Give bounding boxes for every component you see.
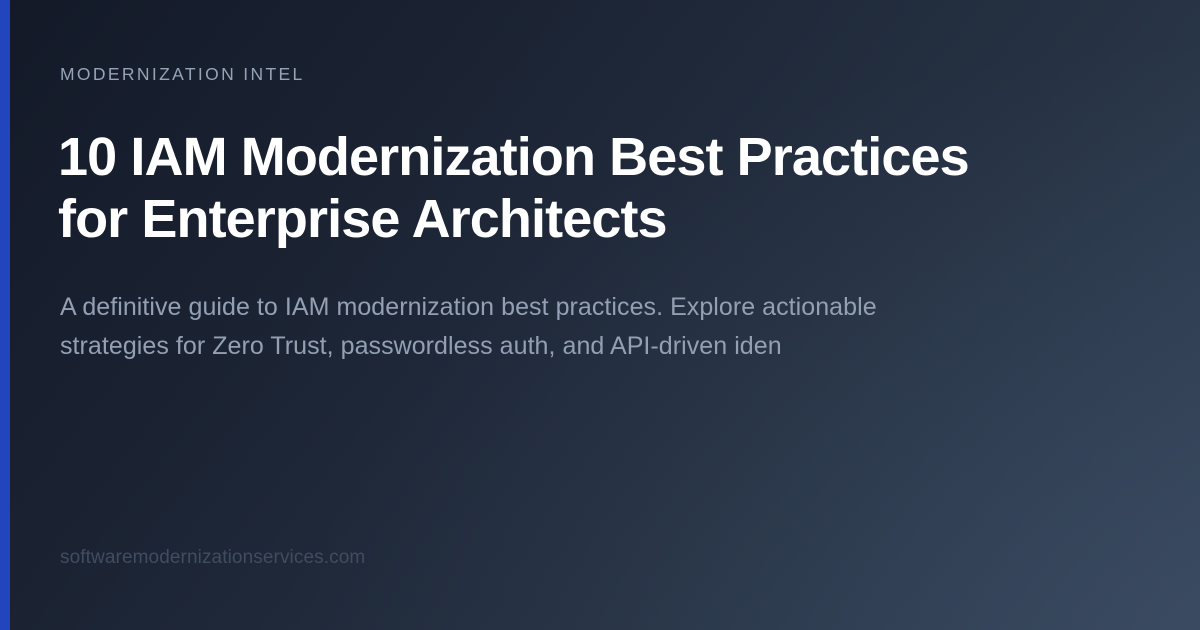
left-accent-bar (0, 0, 10, 630)
footer-domain-label: softwaremodernizationservices.com (60, 547, 365, 569)
page-title: 10 IAM Modernization Best Practices for … (58, 126, 1038, 250)
social-share-card: MODERNIZATION INTEL 10 IAM Modernization… (0, 0, 1200, 630)
eyebrow-label: MODERNIZATION INTEL (60, 64, 305, 85)
page-subtitle: A definitive guide to IAM modernization … (60, 288, 940, 365)
card-content: MODERNIZATION INTEL 10 IAM Modernization… (60, 0, 1140, 630)
